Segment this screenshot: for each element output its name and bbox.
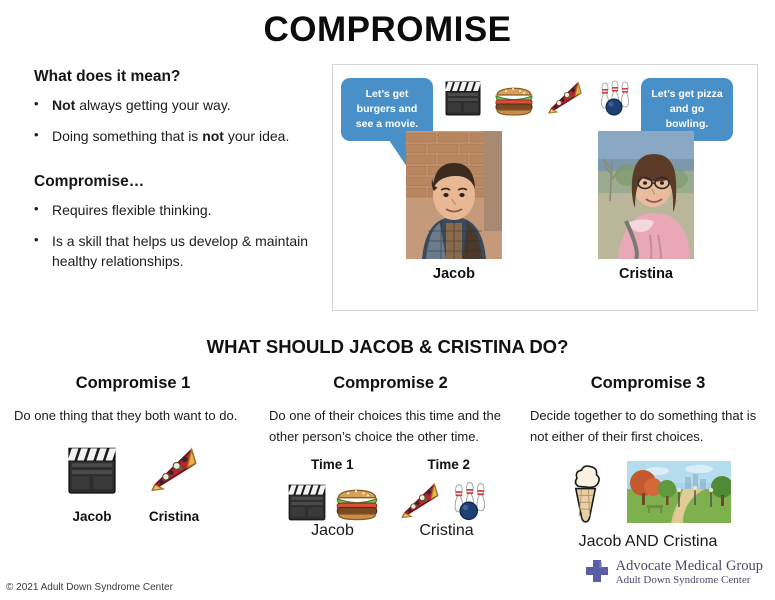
compromise-1-column: Compromise 1 Do one thing that they both… xyxy=(8,374,258,524)
scenario-panel: Let’s get burgers and see a movie. Let’s… xyxy=(332,64,758,311)
compromise-2-time-labels: Time 1 Time 2 xyxy=(263,457,518,472)
definition-bullet: • Requires flexible thinking. xyxy=(34,200,324,220)
jacob-choice-icons xyxy=(443,79,541,122)
definition-bullet-rest: always getting your way. xyxy=(75,97,230,113)
compromise-1-item: Cristina xyxy=(147,444,201,524)
definition-bullet-text: Not always getting your way. xyxy=(52,95,324,115)
park-scene-image xyxy=(627,461,731,523)
compromise-3-icons xyxy=(524,461,772,523)
cross-logo-icon xyxy=(584,559,610,585)
compromise-1-description: Do one thing that they both want to do. xyxy=(8,405,258,426)
definitions-column: What does it mean? • Not always getting … xyxy=(34,68,324,282)
organization-logo: Advocate Medical Group Adult Down Syndro… xyxy=(584,559,763,586)
page-title: COMPROMISE xyxy=(0,10,775,50)
pizza-icon xyxy=(398,480,442,522)
logo-secondary-text: Adult Down Syndrome Center xyxy=(616,574,763,586)
compromise-2-description: Do one of their choices this time and th… xyxy=(263,405,518,447)
cristina-photo-block: Cristina xyxy=(581,131,711,282)
clapperboard-icon xyxy=(65,444,119,496)
time-1-label: Time 1 xyxy=(311,457,354,472)
definition-bullet-emphasis: not xyxy=(202,128,224,144)
definition-bullet: • Doing something that is not your idea. xyxy=(34,126,324,146)
definition-bullet-text: Doing something that is not your idea. xyxy=(52,126,324,146)
bullet-marker-icon: • xyxy=(34,95,52,114)
slide-canvas: COMPROMISE What does it mean? • Not alwa… xyxy=(0,0,775,600)
compromise-1-title: Compromise 1 xyxy=(8,374,258,393)
ice-cream-icon xyxy=(565,461,605,523)
pizza-icon xyxy=(147,444,201,496)
definition-bullet-rest: Doing something that is xyxy=(52,128,202,144)
definitions-heading-2: Compromise… xyxy=(34,173,324,191)
clapperboard-icon xyxy=(443,79,483,122)
definition-bullet: • Is a skill that helps us develop & mai… xyxy=(34,231,324,272)
compromise-1-icons: Jacob Cristina xyxy=(8,444,258,524)
compromise-2-item: Jacob xyxy=(286,480,380,540)
compromise-2-caption: Jacob xyxy=(286,522,380,540)
compromise-1-caption: Jacob xyxy=(65,509,119,524)
definition-bullet: • Not always getting your way. xyxy=(34,95,324,115)
compromise-3-caption: Jacob AND Cristina xyxy=(524,533,772,551)
jacob-name-label: Jacob xyxy=(389,266,519,282)
compromise-2-column: Compromise 2 Do one of their choices thi… xyxy=(263,374,518,540)
definitions-heading-1: What does it mean? xyxy=(34,68,324,86)
logo-primary-text: Advocate Medical Group xyxy=(616,559,763,574)
time-2-label: Time 2 xyxy=(428,457,471,472)
compromise-2-item: Cristina xyxy=(398,480,496,540)
speech-bubble-jacob-text: Let’s get burgers and see a movie. xyxy=(356,88,418,130)
pizza-icon xyxy=(545,79,585,122)
burger-icon xyxy=(334,480,380,522)
speech-bubble-cristina-text: Let’s get pizza and go bowling. xyxy=(651,88,722,130)
compromise-2-icons: Jacob xyxy=(263,480,518,540)
jacob-photo xyxy=(406,131,502,259)
definition-bullet-rest-2: your idea. xyxy=(224,128,289,144)
compromise-3-title: Compromise 3 xyxy=(524,374,772,393)
definition-bullet-text: Requires flexible thinking. xyxy=(52,200,324,220)
burger-icon xyxy=(493,79,535,122)
compromise-1-caption: Cristina xyxy=(147,509,201,524)
bowling-icon xyxy=(595,79,639,122)
clapperboard-icon xyxy=(286,482,328,522)
cristina-choice-icons xyxy=(545,79,645,122)
bullet-marker-icon: • xyxy=(34,231,52,250)
compromise-3-description: Decide together to do something that is … xyxy=(524,405,772,447)
bowling-icon xyxy=(448,480,496,522)
copyright-text: © 2021 Adult Down Syndrome Center xyxy=(6,582,173,593)
compromise-2-caption: Cristina xyxy=(398,522,496,540)
jacob-photo-block: Jacob xyxy=(389,131,519,282)
cristina-photo xyxy=(598,131,694,259)
definition-bullet-text: Is a skill that helps us develop & maint… xyxy=(52,231,324,272)
compromise-3-column: Compromise 3 Decide together to do somet… xyxy=(524,374,772,551)
section-heading: WHAT SHOULD JACOB & CRISTINA DO? xyxy=(0,336,775,358)
definition-bullet-emphasis: Not xyxy=(52,97,75,113)
bullet-marker-icon: • xyxy=(34,126,52,145)
cristina-name-label: Cristina xyxy=(581,266,711,282)
bullet-marker-icon: • xyxy=(34,200,52,219)
compromise-2-title: Compromise 2 xyxy=(263,374,518,393)
compromise-1-item: Jacob xyxy=(65,444,119,524)
